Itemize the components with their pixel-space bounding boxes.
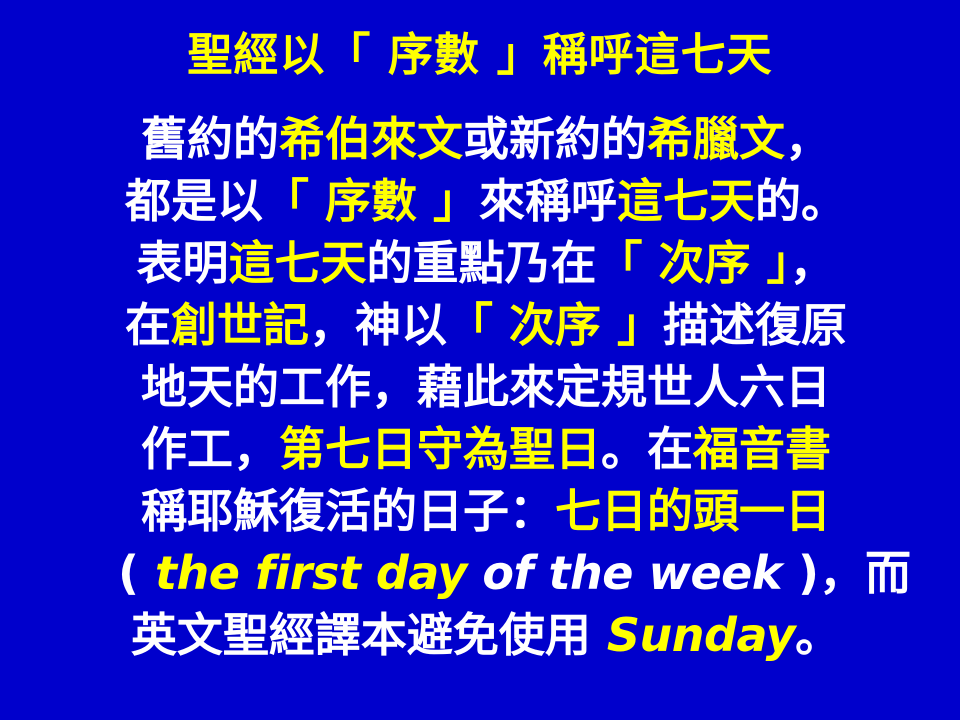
text-run: 英文聖經譯本避免使用 (131, 608, 607, 662)
text-run: 稱耶穌復活的日子： (141, 484, 555, 538)
body-line-8: ( the first day of the week )，而 (118, 542, 854, 604)
text-run: 的。 (755, 174, 847, 228)
text-run: 希伯來文 (279, 112, 463, 166)
text-run: 。在 (601, 422, 693, 476)
text-run: 地天的工作，藉此來定規世人六日 (141, 360, 831, 414)
text-run: 「 次序 」 (447, 298, 663, 352)
presentation-slide: 聖經以「 序數 」稱呼這七天 舊約的希伯來文或新約的希臘文， 都是以「 序數 」… (0, 0, 960, 720)
text-run: ， (790, 236, 836, 290)
text-run: 這七天 (617, 174, 755, 228)
text-run: 。 (795, 608, 841, 662)
text-run: 七日的頭一日 (555, 484, 831, 538)
text-run: the first day (155, 546, 467, 600)
text-run: )，而 (782, 546, 911, 600)
text-run: 「 序數 」 (263, 174, 479, 228)
text-run: 創世記 (171, 298, 309, 352)
text-run: 在 (125, 298, 171, 352)
body-line-3: 表明這七天的重點乃在「 次序 」， (118, 232, 854, 294)
body-line-4: 在創世記，神以「 次序 」描述復原 (118, 294, 854, 356)
text-run: 希臘文 (647, 112, 785, 166)
text-run: ，神以 (309, 298, 447, 352)
slide-body: 舊約的希伯來文或新約的希臘文， 都是以「 序數 」來稱呼這七天的。 表明這七天的… (118, 108, 854, 666)
text-run: 描述復原 (663, 298, 847, 352)
text-run: Sunday (607, 608, 795, 662)
text-run: 的重點乃在 (366, 236, 596, 290)
text-run: 「 次序 」 (596, 236, 789, 290)
body-line-9: 英文聖經譯本避免使用 Sunday。 (118, 604, 854, 666)
body-line-5: 地天的工作，藉此來定規世人六日 (118, 356, 854, 418)
body-line-2: 都是以「 序數 」來稱呼這七天的。 (118, 170, 854, 232)
text-run: 都是以 (125, 174, 263, 228)
text-run: 來稱呼 (479, 174, 617, 228)
text-run: 表明 (136, 236, 228, 290)
text-run: of the week (467, 546, 782, 600)
text-run: ， (785, 112, 831, 166)
body-line-7: 稱耶穌復活的日子：七日的頭一日 (118, 480, 854, 542)
body-line-6: 作工，第七日守為聖日。在福音書 (118, 418, 854, 480)
text-run: 第七日守為聖日 (279, 422, 601, 476)
body-line-1: 舊約的希伯來文或新約的希臘文， (118, 108, 854, 170)
text-run: 福音書 (693, 422, 831, 476)
text-run: ( (118, 546, 155, 600)
text-run: 舊約的 (141, 112, 279, 166)
slide-title: 聖經以「 序數 」稱呼這七天 (0, 28, 960, 81)
text-run: 或新約的 (463, 112, 647, 166)
text-run: 作工， (141, 422, 279, 476)
text-run: 這七天 (228, 236, 366, 290)
